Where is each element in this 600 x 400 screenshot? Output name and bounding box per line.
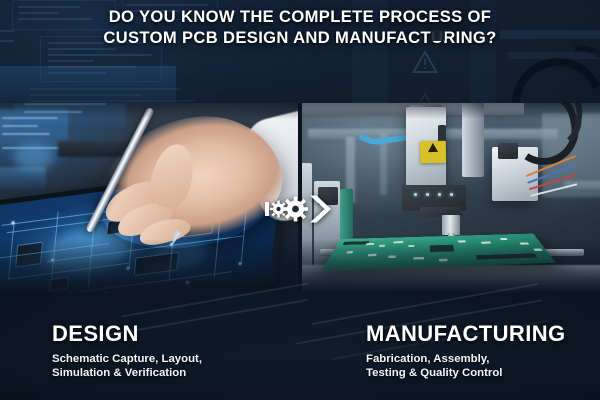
gantry-column (462, 103, 484, 177)
caption-manufacturing-text: MANUFACTURING Fabrication, Assembly, Tes… (366, 321, 566, 380)
monitor-text-line (24, 103, 106, 105)
monitor-text-line (2, 133, 50, 135)
pcb-pad (127, 267, 130, 270)
panel-design-image (0, 103, 298, 293)
screen-glow (14, 143, 54, 171)
pcb-pad (239, 262, 242, 265)
pcb-component (413, 257, 424, 260)
caption-design-title: DESIGN (52, 321, 202, 346)
pcb-process-infographic: DO YOU KNOW THE COMPLETE PROCESS OF CUST… (0, 0, 600, 400)
pcb-component (533, 249, 542, 251)
pcb-chip (134, 252, 179, 276)
pcb-component (481, 242, 491, 244)
pcb-component (458, 240, 466, 242)
monitor-text-line (2, 125, 38, 127)
pcb-pad (51, 258, 54, 261)
pcb-connector (476, 253, 538, 259)
nozzle-screw (414, 193, 417, 196)
pickup-nozzle (442, 215, 460, 235)
caption-design-text: DESIGN Schematic Capture, Layout, Simula… (52, 321, 202, 380)
title-line-1: DO YOU KNOW THE COMPLETE PROCESS OF (109, 7, 492, 28)
design-photo (0, 103, 298, 293)
pcb-component (366, 243, 375, 245)
monitor-text-line (2, 117, 58, 119)
pcb-component (393, 241, 403, 243)
caption-design-subtitle-line-1: Schematic Capture, Layout, (52, 352, 202, 366)
warning-triangle-icon (428, 143, 438, 152)
title-line-2: CUSTOM PCB DESIGN AND MANUFACTURING? (103, 28, 496, 49)
nozzle-screw (426, 193, 429, 196)
pcb-pad (11, 221, 14, 224)
pcb-component (379, 245, 385, 247)
pcb-component (519, 242, 529, 244)
caption-manufacturing: MANUFACTURING Fabrication, Assembly, Tes… (300, 293, 600, 400)
caption-manufacturing-title: MANUFACTURING (366, 321, 566, 346)
pcb-trace (69, 271, 232, 293)
header: DO YOU KNOW THE COMPLETE PROCESS OF CUST… (0, 0, 600, 103)
process-gears-arrow-icon (264, 194, 332, 224)
caption-manufacturing-subtitle-line-1: Fabrication, Assembly, (366, 352, 566, 366)
caption-design-subtitle-line-2: Simulation & Verification (52, 366, 202, 380)
caption-manufacturing-subtitle: Fabrication, Assembly, Testing & Quality… (366, 352, 566, 380)
pcb-chip (430, 245, 454, 252)
pcb-component (408, 245, 414, 247)
machine-warning-label (420, 141, 446, 163)
thumb (146, 140, 199, 211)
pcb-component (346, 251, 353, 253)
nozzle-screw (450, 193, 453, 196)
caption-manufacturing-subtitle-line-2: Testing & Quality Control (366, 366, 566, 380)
pcb-component (439, 259, 448, 262)
panel-manufacturing-image (302, 103, 600, 293)
pcb-component (368, 254, 377, 257)
caption-design: DESIGN Schematic Capture, Layout, Simula… (0, 293, 300, 400)
caption-row: DESIGN Schematic Capture, Layout, Simula… (0, 293, 600, 400)
monitor-text-line (24, 111, 82, 113)
pcb-component (500, 238, 507, 240)
pcb-component (388, 255, 396, 258)
title-glyph-clip-artifact (431, 30, 445, 41)
caption-design-subtitle: Schematic Capture, Layout, Simulation & … (52, 352, 202, 380)
pcb-pad (186, 281, 189, 284)
manufacturing-photo (302, 103, 600, 293)
nozzle-screw (438, 193, 441, 196)
